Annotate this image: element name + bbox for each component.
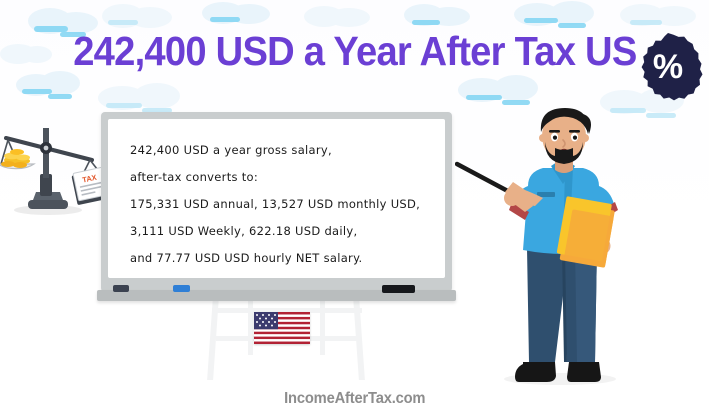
eraser-icon bbox=[113, 285, 129, 292]
whiteboard-line: 3,111 USD Weekly, 622.18 USD daily, bbox=[130, 218, 433, 245]
easel-stand bbox=[196, 292, 376, 380]
whiteboard-surface: 242,400 USD a year gross salary, after-t… bbox=[108, 119, 445, 278]
us-flag-icon bbox=[254, 312, 310, 344]
balance-scales-icon: TAX bbox=[0, 112, 108, 218]
whiteboard-line: 242,400 USD a year gross salary, bbox=[130, 137, 433, 164]
whiteboard: 242,400 USD a year gross salary, after-t… bbox=[101, 112, 452, 292]
whiteboard-line: 175,331 USD annual, 13,527 USD monthly U… bbox=[130, 191, 433, 218]
whiteboard-text: 242,400 USD a year gross salary, after-t… bbox=[130, 137, 433, 272]
whiteboard-line: after-tax converts to: bbox=[130, 164, 433, 191]
cloud-icon bbox=[90, 82, 186, 114]
whiteboard-ledge bbox=[97, 290, 456, 301]
svg-text:%: % bbox=[653, 48, 683, 86]
marker-icon bbox=[173, 285, 190, 292]
page-title: 242,400 USD a Year After Tax US bbox=[73, 24, 636, 78]
percent-badge-icon: % bbox=[632, 32, 704, 104]
eraser-icon bbox=[382, 285, 415, 293]
page-title-container: 242,400 USD a Year After Tax US bbox=[0, 24, 709, 82]
footer: IncomeAfterTax.com bbox=[0, 390, 709, 408]
easel-leg-inner-left bbox=[248, 297, 253, 355]
easel-leg-inner-right bbox=[320, 297, 325, 355]
teacher-illustration bbox=[455, 100, 670, 392]
whiteboard-line: and 77.77 USD USD hourly NET salary. bbox=[130, 245, 433, 272]
infographic-page: 242,400 USD a Year After Tax US % bbox=[0, 0, 709, 419]
site-name: IncomeAfterTax.com bbox=[284, 390, 425, 408]
